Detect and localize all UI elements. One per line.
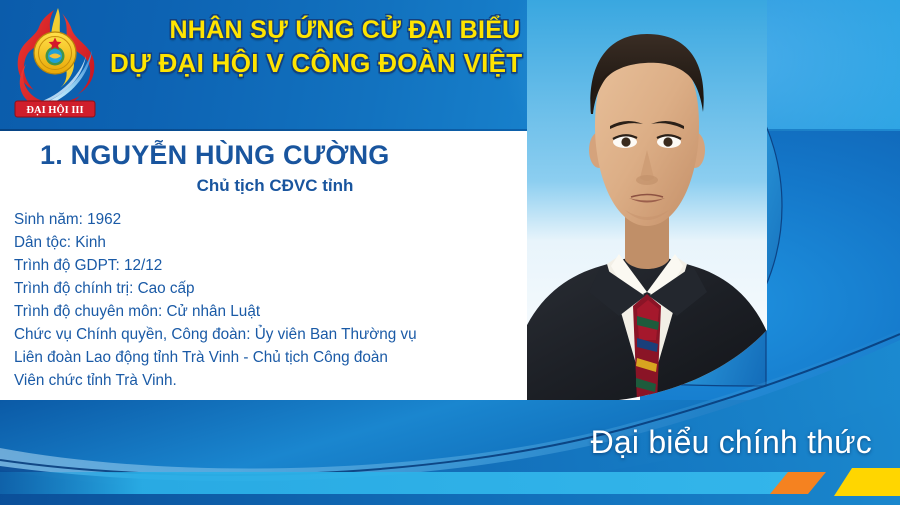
bio-line: Trình độ chính trị: Cao cấp xyxy=(14,278,534,301)
candidate-bio: Sinh năm: 1962 Dân tộc: Kinh Trình độ GD… xyxy=(14,209,534,393)
footer-label: Đại biểu chính thức xyxy=(591,424,872,461)
candidate-role: Chủ tịch CĐVC tỉnh xyxy=(40,176,510,196)
bio-line: Viên chức tỉnh Trà Vinh. xyxy=(14,370,534,393)
slide-canvas: ĐẠI HỘI III NHÂN SỰ ỨNG CỬ ĐẠI BIỂU DỰ Đ… xyxy=(0,0,900,505)
bio-line: Trình độ GDPT: 12/12 xyxy=(14,255,534,278)
bio-line: Chức vụ Chính quyền, Công đoàn: Ủy viên … xyxy=(14,324,534,347)
candidate-name: 1. NGUYỄN HÙNG CƯỜNG xyxy=(40,140,510,171)
header-title-line1: NHÂN SỰ ỨNG CỬ ĐẠI BIỂU xyxy=(110,16,580,45)
orange-bar xyxy=(770,472,826,494)
bio-line: Dân tộc: Kinh xyxy=(14,232,534,255)
cyan-bar xyxy=(0,472,790,494)
header-title-line2: DỰ ĐẠI HỘI V CÔNG ĐOÀN VIỆT NAM xyxy=(110,49,580,79)
candidate-photo xyxy=(527,0,767,402)
congress-logo: ĐẠI HỘI III xyxy=(6,4,104,124)
yellow-bar xyxy=(834,468,900,496)
bio-line: Sinh năm: 1962 xyxy=(14,209,534,232)
bio-line: Trình độ chuyên môn: Cử nhân Luật xyxy=(14,301,534,324)
header-title-group: NHÂN SỰ ỨNG CỬ ĐẠI BIỂU DỰ ĐẠI HỘI V CÔN… xyxy=(110,16,580,79)
accent-bars xyxy=(0,462,900,505)
logo-banner-text: ĐẠI HỘI III xyxy=(26,103,83,116)
bio-line: Liên đoàn Lao động tỉnh Trà Vinh - Chủ t… xyxy=(14,347,534,370)
